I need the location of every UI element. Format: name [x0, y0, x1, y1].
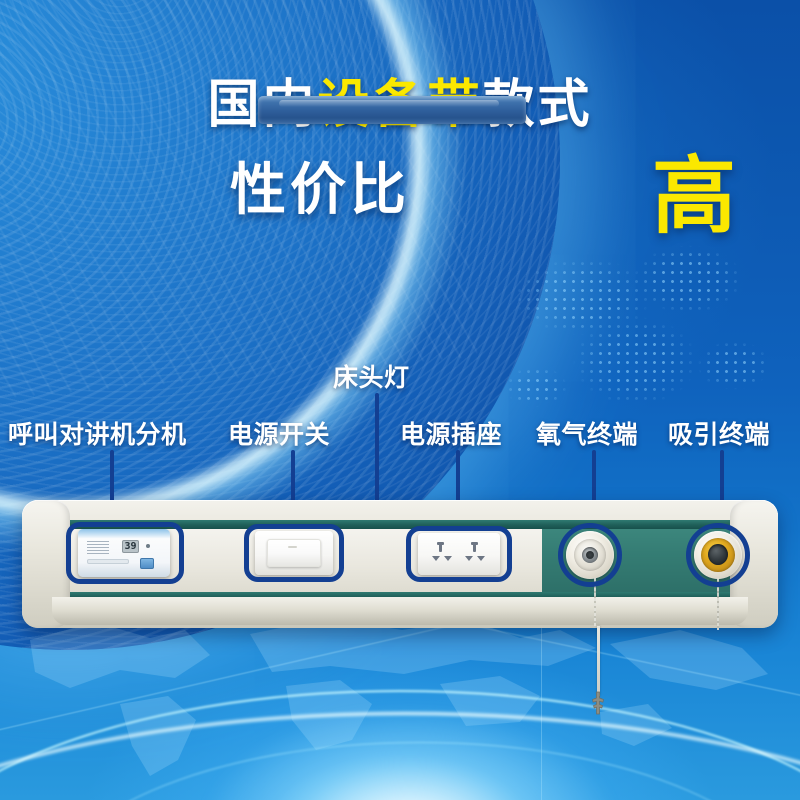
promo-banner: 国内设备带款式 性价比 高 呼叫对讲机分机 电源开关 床头灯 电源插座 氧气终端…: [0, 0, 800, 800]
callout-label-power-socket: 电源插座: [400, 415, 502, 451]
highlight-box-power-socket: [406, 526, 512, 582]
panel-lower-rail: [52, 597, 748, 625]
callout-label-intercom: 呼叫对讲机分机: [8, 415, 187, 451]
callout-label-suction: 吸引终端: [668, 415, 770, 451]
bed-lamp-diffuser[interactable]: [258, 96, 526, 124]
headline-accent-word: 高: [652, 129, 738, 250]
callout-label-bed-lamp: 床头灯: [333, 358, 410, 394]
callout-label-oxygen: 氧气终端: [536, 415, 638, 451]
headline-line-2: 性价比 高: [0, 145, 800, 221]
highlight-circle-oxygen: [558, 523, 622, 587]
pull-cord: [597, 626, 600, 696]
pull-cord-plug-icon: [585, 690, 611, 716]
highlight-box-power-switch: [244, 524, 344, 582]
callout-label-power-switch: 电源开关: [228, 415, 330, 451]
highlight-box-intercom: [66, 522, 184, 584]
highlight-circle-suction: [686, 523, 750, 587]
